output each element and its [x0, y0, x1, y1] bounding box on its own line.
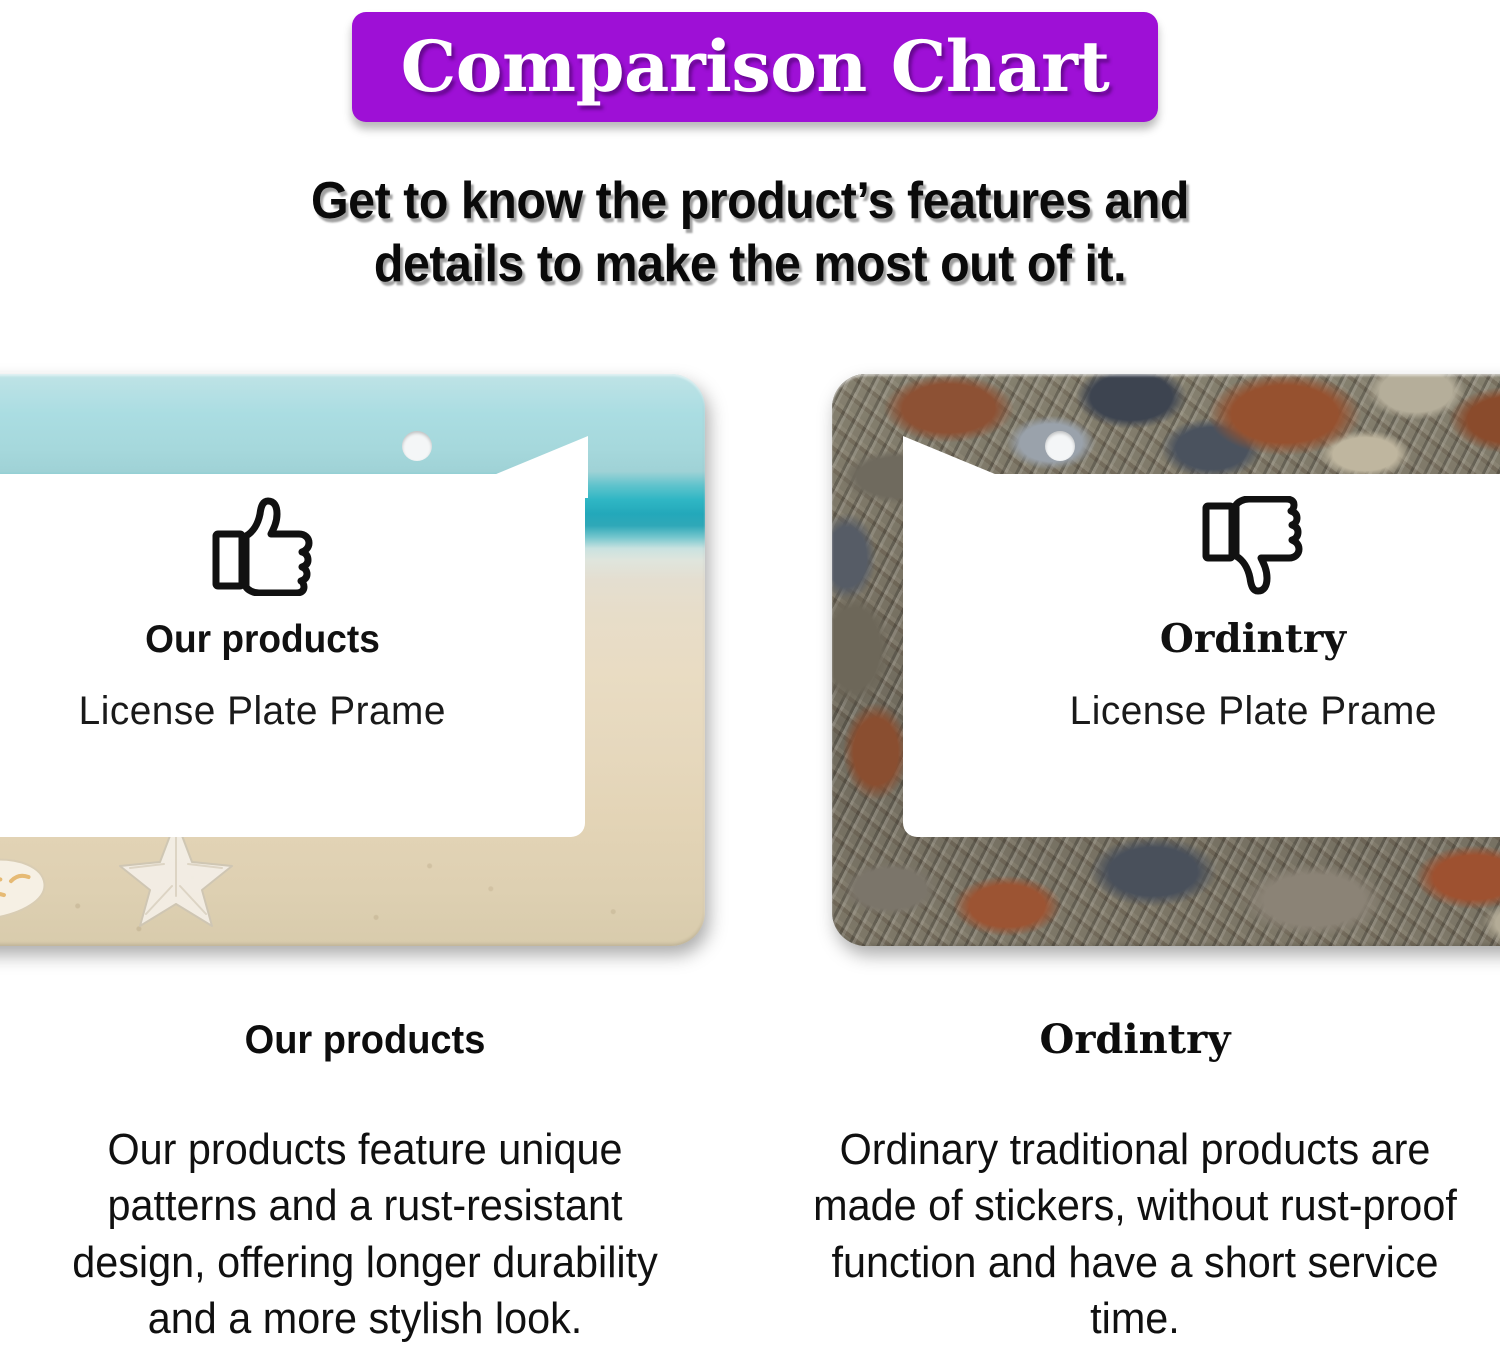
ordinary-product-frame: Ordintry License Plate Prame [832, 374, 1500, 946]
our-product-column-heading: Our products [37, 1020, 693, 1060]
ordinary-product-plate-subtitle: License Plate Prame [1069, 689, 1436, 734]
ordinary-product-column: Ordintry Ordinary traditional products a… [790, 1020, 1480, 1347]
mounting-hole [402, 431, 432, 461]
thumbs-down-icon [1201, 496, 1305, 596]
ordinary-product-plate-brand: Ordintry [1160, 620, 1346, 659]
mounting-hole [1045, 431, 1075, 461]
our-product-frame: Our products License Plate Prame [0, 374, 705, 946]
our-product-plate-brand: Our products [145, 620, 380, 659]
our-product-column: Our products Our products feature unique… [20, 1020, 710, 1347]
our-product-plate-subtitle: License Plate Prame [79, 689, 446, 734]
our-product-plate-content: Our products License Plate Prame [0, 474, 585, 837]
thumbs-up-icon [211, 496, 315, 596]
our-product-column-body: Our products feature unique patterns and… [41, 1122, 690, 1347]
ordinary-product-column-body: Ordinary traditional products are made o… [811, 1122, 1460, 1347]
ordinary-product-plate-content: Ordintry License Plate Prame [903, 474, 1500, 837]
ordinary-product-column-heading: Ordintry [790, 1020, 1480, 1060]
comparison-chart-page: Comparison Chart Get to know the product… [0, 0, 1500, 1364]
